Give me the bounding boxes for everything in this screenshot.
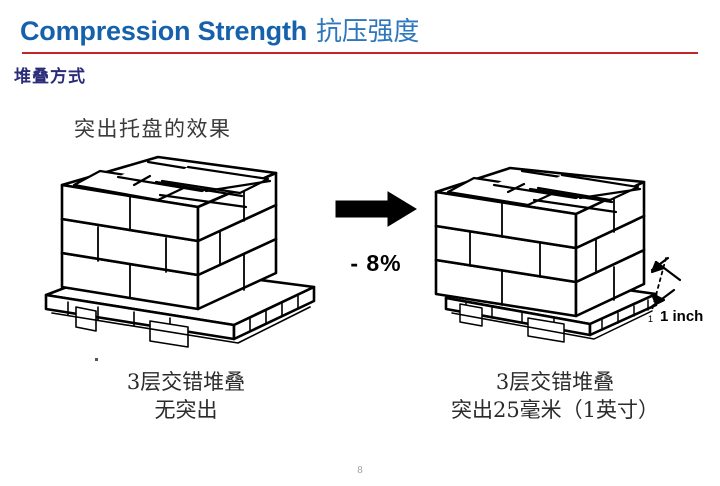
caption-left: 3层交错堆叠 无突出 [36, 369, 336, 424]
slide: Compression Strength抗压强度 堆叠方式 突出托盘的效果 [0, 0, 720, 486]
page-title: Compression Strength抗压强度 [20, 11, 419, 48]
stray-mark [95, 358, 98, 361]
caption-right-line1: 3层交错堆叠 [496, 370, 614, 394]
caption-right-line2: 突出25毫米（1英寸） [400, 397, 710, 425]
illustration-no-overhang [38, 155, 328, 355]
dimension-value-label: 1 inch [660, 308, 703, 325]
caption-left-line1: 3层交错堆叠 [127, 370, 245, 394]
figure-overhead-caption: 突出托盘的效果 [74, 113, 232, 143]
right-arrow-icon [334, 190, 418, 228]
page-title-english: Compression Strength [20, 16, 307, 46]
dimension-tick-label: 1 [648, 314, 653, 324]
page-subtitle: 堆叠方式 [14, 62, 86, 87]
box-stack-with-overhang [436, 168, 644, 316]
page-title-chinese: 抗压强度 [316, 17, 419, 47]
overhang-dimension-annotation [650, 258, 680, 310]
box-stack-no-overhang [62, 157, 276, 309]
compression-delta-label: - 8% [334, 250, 418, 277]
caption-right: 3层交错堆叠 突出25毫米（1英寸） [400, 369, 710, 424]
caption-left-line2: 无突出 [36, 397, 336, 425]
header-divider [22, 52, 698, 54]
page-number: 8 [0, 466, 720, 476]
